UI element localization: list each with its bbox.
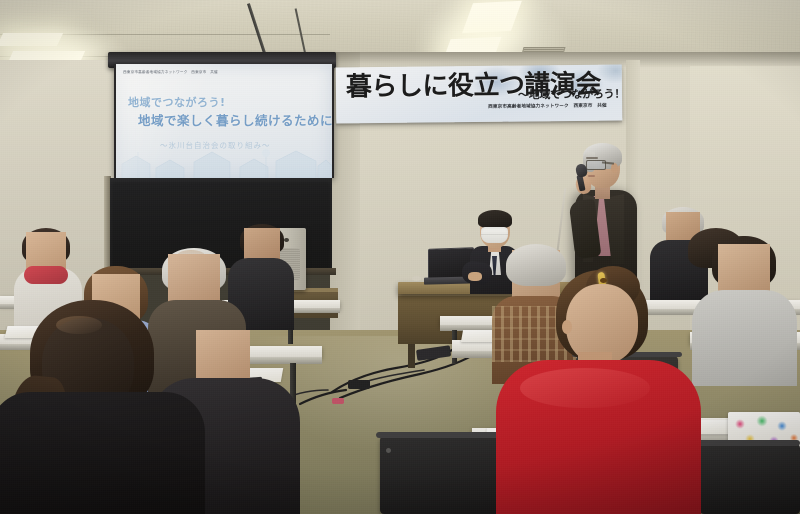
chair-frame	[696, 440, 800, 446]
audience-scarf	[24, 266, 68, 284]
speaker-ear	[611, 163, 618, 173]
operator-hand	[468, 272, 482, 281]
speaker-mouth	[588, 175, 595, 177]
photo-scene: 西東京市高齢者地域協力ネットワーク 西東京市 共催 地域でつながろう! 地域で楽…	[0, 0, 800, 514]
list-item	[0, 392, 205, 514]
podium-small-object	[412, 276, 421, 281]
list-item	[692, 290, 797, 386]
chair[interactable]	[700, 444, 800, 514]
face-mask-icon	[481, 227, 508, 243]
operator-hair	[478, 210, 512, 228]
speaker-eyebrow	[586, 157, 598, 159]
chair-rivet	[386, 448, 391, 453]
hair-highlight	[56, 316, 102, 334]
face-mask-fold	[481, 234, 508, 235]
hair-clip-bead	[600, 278, 607, 283]
audience-hair	[506, 244, 566, 286]
coat-highlight	[520, 368, 650, 408]
audience-ear	[562, 320, 572, 334]
podium-leg	[408, 342, 415, 368]
